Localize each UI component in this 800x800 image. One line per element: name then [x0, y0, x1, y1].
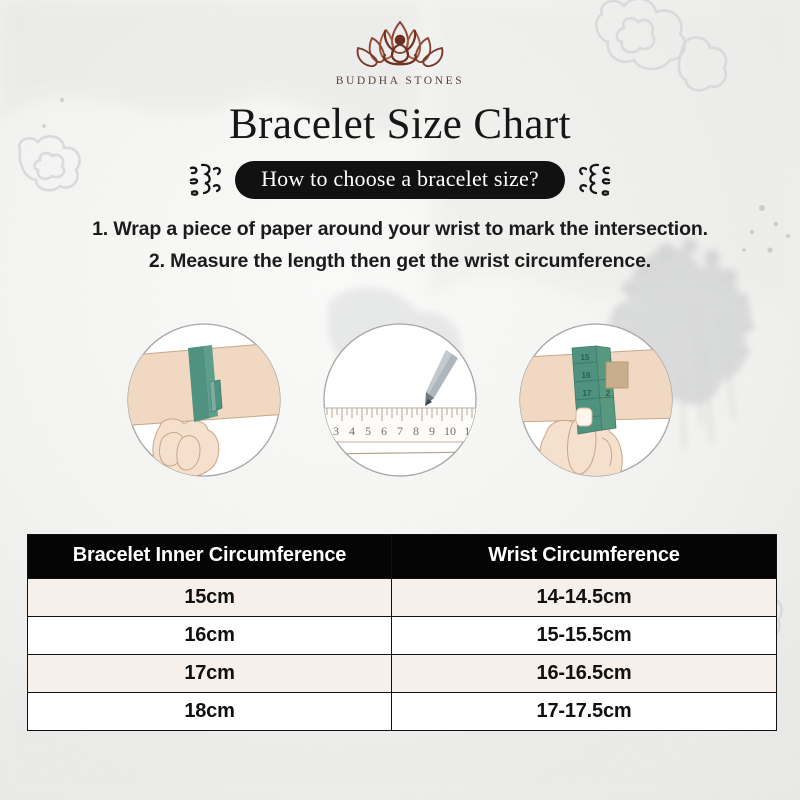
subtitle-row: How to choose a bracelet size?	[0, 160, 800, 200]
table-row: 17cm 16-16.5cm	[28, 655, 777, 693]
cell-bracelet-circumference: 16cm	[28, 617, 392, 655]
svg-text:5: 5	[365, 424, 371, 438]
svg-text:17: 17	[583, 389, 592, 398]
table-row: 18cm 17-17.5cm	[28, 693, 777, 731]
svg-text:7: 7	[397, 424, 403, 438]
wrist-tape-measure-illustration: 15 16 17 2	[518, 322, 674, 478]
svg-text:16: 16	[582, 371, 591, 380]
size-chart-table: Bracelet Inner Circumference Wrist Circu…	[27, 534, 777, 731]
cell-bracelet-circumference: 17cm	[28, 655, 392, 693]
cell-wrist-circumference: 17-17.5cm	[392, 693, 777, 731]
table-header-row: Bracelet Inner Circumference Wrist Circu…	[28, 535, 777, 579]
svg-text:2: 2	[606, 389, 611, 398]
page-title: Bracelet Size Chart	[0, 100, 800, 149]
svg-text:15: 15	[581, 353, 590, 362]
lotus-meditation-icon	[336, 18, 464, 74]
cell-wrist-circumference: 15-15.5cm	[392, 617, 777, 655]
svg-text:6: 6	[381, 424, 387, 438]
illustration-row: 34 56 78 910 1112	[0, 322, 800, 478]
flourish-ornament-right-icon	[576, 160, 614, 200]
cell-wrist-circumference: 14-14.5cm	[392, 579, 777, 617]
column-header-bracelet: Bracelet Inner Circumference	[28, 535, 392, 579]
table-row: 16cm 15-15.5cm	[28, 617, 777, 655]
flourish-ornament-left-icon	[186, 160, 224, 200]
cell-wrist-circumference: 16-16.5cm	[392, 655, 777, 693]
instructions-list: 1. Wrap a piece of paper around your wri…	[0, 213, 800, 277]
wrist-paper-wrap-illustration	[126, 322, 282, 478]
table-row: 15cm 14-14.5cm	[28, 579, 777, 617]
svg-text:4: 4	[349, 424, 355, 438]
cell-bracelet-circumference: 18cm	[28, 693, 392, 731]
svg-text:8: 8	[413, 424, 419, 438]
subtitle-pill: How to choose a bracelet size?	[235, 161, 565, 199]
instruction-step-2: 2. Measure the length then get the wrist…	[0, 245, 800, 277]
svg-text:3: 3	[333, 424, 339, 438]
cell-bracelet-circumference: 15cm	[28, 579, 392, 617]
column-header-wrist: Wrist Circumference	[392, 535, 777, 579]
brand-logo: BUDDHA STONES	[0, 18, 800, 87]
instruction-step-1: 1. Wrap a piece of paper around your wri…	[0, 213, 800, 245]
ruler-pencil-illustration: 34 56 78 910 1112	[322, 322, 478, 478]
svg-text:9: 9	[429, 424, 435, 438]
svg-text:10: 10	[444, 424, 456, 438]
brand-name: BUDDHA STONES	[336, 75, 464, 87]
